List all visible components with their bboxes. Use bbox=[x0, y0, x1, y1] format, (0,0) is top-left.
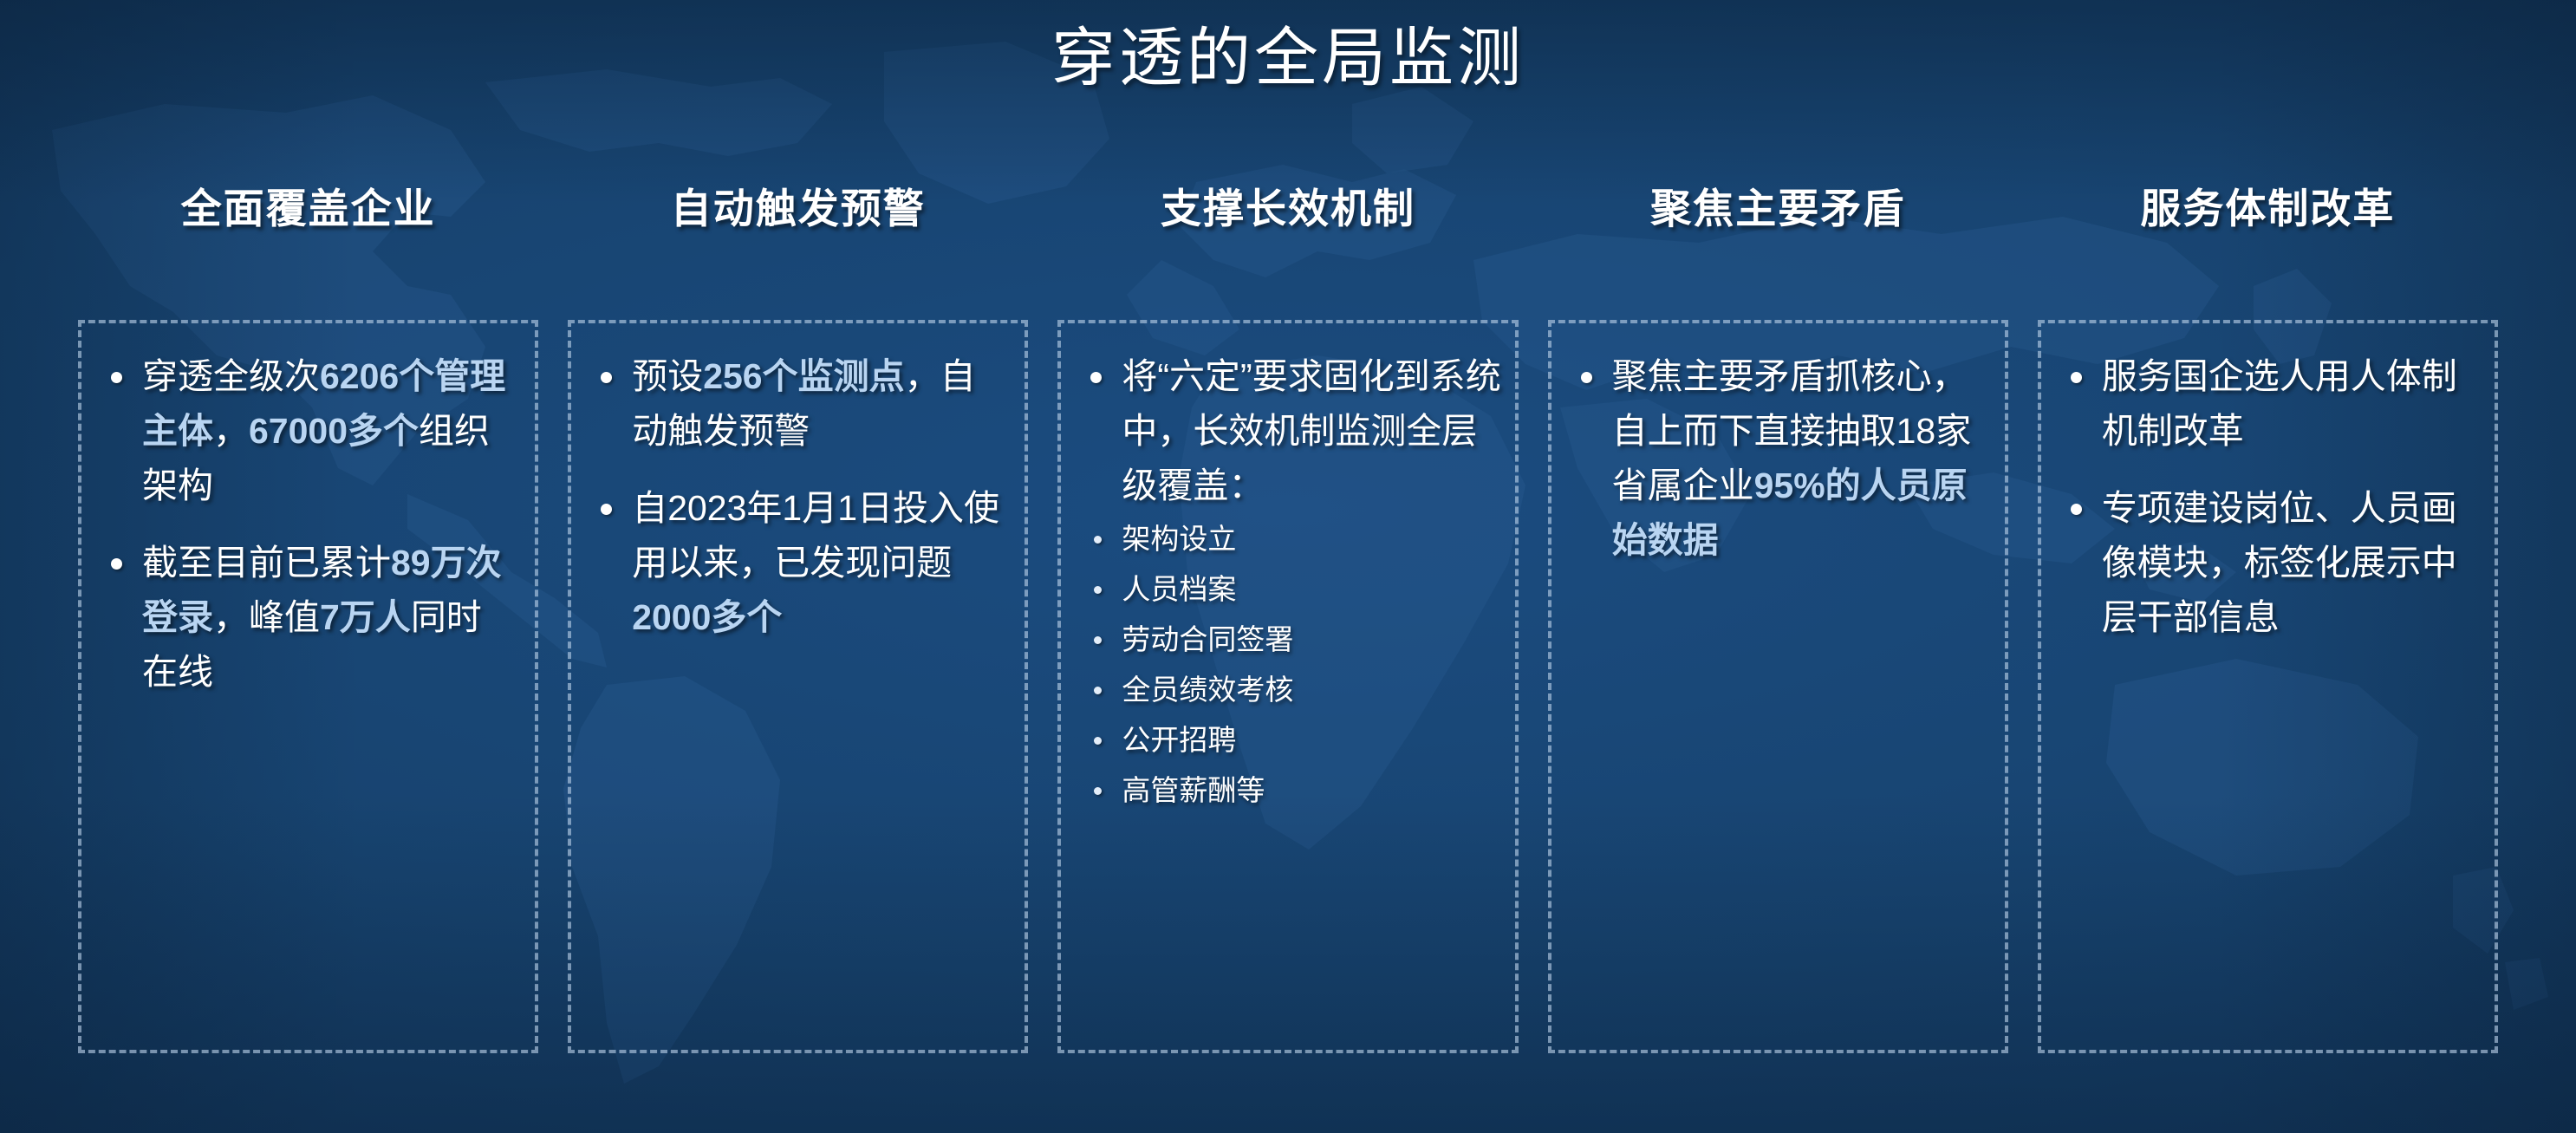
bullet-text: 预设 bbox=[632, 356, 703, 396]
column-content-box: 将“六定”要求固化到系统中，长效机制监测全层级覆盖： 架构设立人员档案劳动合同签… bbox=[1057, 320, 1518, 1053]
bullet-item: 穿透全级次6206个管理主体，67000多个组织架构 bbox=[97, 349, 516, 513]
bullet-highlight: 67000多个 bbox=[249, 411, 419, 451]
column-header: 支撑长效机制 bbox=[1057, 178, 1518, 251]
column-long-term-mechanism: 支撑长效机制 将“六定”要求固化到系统中，长效机制监测全层级覆盖： 架构设立人员… bbox=[1057, 178, 1518, 1053]
bullet-item: 自2023年1月1日投入使用以来，已发现问题2000多个 bbox=[587, 481, 1005, 645]
sub-bullet-item: 公开招聘 bbox=[1077, 718, 1506, 763]
column-system-reform: 服务体制改革 服务国企选人用人体制机制改革专项建设岗位、人员画像模块，标签化展示… bbox=[2038, 178, 2498, 1053]
columns-container: 全面覆盖企业 穿透全级次6206个管理主体，67000多个组织架构截至目前已累计… bbox=[0, 178, 2576, 1053]
bullet-list: 将“六定”要求固化到系统中，长效机制监测全层级覆盖： bbox=[1077, 349, 1506, 513]
sub-bullet-item: 全员绩效考核 bbox=[1077, 667, 1506, 713]
column-header: 全面覆盖企业 bbox=[78, 178, 538, 251]
bullet-item: 服务国企选人用人体制机制改革 bbox=[2057, 349, 2475, 459]
bullet-list: 穿透全级次6206个管理主体，67000多个组织架构截至目前已累计89万次登录，… bbox=[97, 349, 516, 700]
sub-bullet-item: 劳动合同签署 bbox=[1077, 617, 1506, 662]
column-content-box: 预设256个监测点，自动触发预警自2023年1月1日投入使用以来，已发现问题20… bbox=[568, 320, 1028, 1053]
sub-bullet-item: 高管薪酬等 bbox=[1077, 768, 1506, 813]
column-content-box: 聚焦主要矛盾抓核心，自上而下直接抽取18家省属企业95%的人员原始数据 bbox=[1548, 320, 2008, 1053]
bullet-text: 服务国企选人用人体制机制改革 bbox=[2102, 356, 2457, 451]
column-header: 聚焦主要矛盾 bbox=[1548, 178, 2008, 251]
column-full-coverage: 全面覆盖企业 穿透全级次6206个管理主体，67000多个组织架构截至目前已累计… bbox=[78, 178, 538, 1053]
bullet-highlight: 256个监测点 bbox=[703, 356, 904, 396]
sub-bullet-list: 架构设立人员档案劳动合同签署全员绩效考核公开招聘高管薪酬等 bbox=[1077, 517, 1506, 813]
bullet-item: 专项建设岗位、人员画像模块，标签化展示中层干部信息 bbox=[2057, 481, 2475, 645]
bullet-text: 穿透全级次 bbox=[142, 356, 320, 396]
bullet-highlight: 7万人 bbox=[320, 597, 411, 637]
bullet-text: ， bbox=[213, 411, 249, 451]
column-header: 自动触发预警 bbox=[568, 178, 1028, 251]
column-content-box: 穿透全级次6206个管理主体，67000多个组织架构截至目前已累计89万次登录，… bbox=[78, 320, 538, 1053]
bullet-text: 截至目前已累计 bbox=[142, 543, 391, 583]
sub-bullet-item: 人员档案 bbox=[1077, 567, 1506, 612]
bullet-item: 将“六定”要求固化到系统中，长效机制监测全层级覆盖： bbox=[1077, 349, 1506, 513]
bullet-text: 专项建设岗位、人员画像模块，标签化展示中层干部信息 bbox=[2102, 488, 2457, 637]
column-header: 服务体制改革 bbox=[2038, 178, 2498, 251]
bullet-list: 聚焦主要矛盾抓核心，自上而下直接抽取18家省属企业95%的人员原始数据 bbox=[1567, 349, 1986, 568]
bullet-item: 聚焦主要矛盾抓核心，自上而下直接抽取18家省属企业95%的人员原始数据 bbox=[1567, 349, 1986, 568]
bullet-text: ，峰值 bbox=[213, 597, 320, 637]
bullet-text: 将“六定”要求固化到系统中，长效机制监测全层级覆盖： bbox=[1122, 356, 1500, 505]
column-content-box: 服务国企选人用人体制机制改革专项建设岗位、人员画像模块，标签化展示中层干部信息 bbox=[2038, 320, 2498, 1053]
sub-bullet-item: 架构设立 bbox=[1077, 517, 1506, 562]
bullet-item: 预设256个监测点，自动触发预警 bbox=[587, 349, 1005, 459]
page-title: 穿透的全局监测 bbox=[0, 10, 2576, 106]
bullet-list: 服务国企选人用人体制机制改革专项建设岗位、人员画像模块，标签化展示中层干部信息 bbox=[2057, 349, 2475, 645]
column-key-conflicts: 聚焦主要矛盾 聚焦主要矛盾抓核心，自上而下直接抽取18家省属企业95%的人员原始… bbox=[1548, 178, 2008, 1053]
column-auto-alert: 自动触发预警 预设256个监测点，自动触发预警自2023年1月1日投入使用以来，… bbox=[568, 178, 1028, 1053]
bullet-list: 预设256个监测点，自动触发预警自2023年1月1日投入使用以来，已发现问题20… bbox=[587, 349, 1005, 645]
bullet-item: 截至目前已累计89万次登录，峰值7万人同时在线 bbox=[97, 536, 516, 700]
bullet-highlight: 2000多个 bbox=[632, 597, 782, 637]
bullet-text: 自2023年1月1日投入使用以来，已发现问题 bbox=[632, 488, 999, 583]
